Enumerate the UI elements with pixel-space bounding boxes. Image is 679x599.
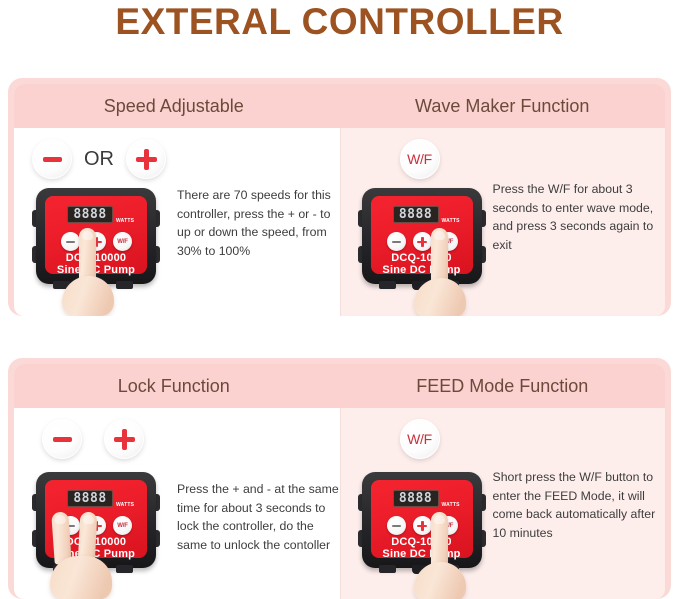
device-plus-button[interactable] xyxy=(87,232,106,251)
panel-header-row1: Speed Adjustable Wave Maker Function xyxy=(14,84,665,128)
panel-title-wave-maker: Wave Maker Function xyxy=(340,84,666,128)
device-plus-button[interactable] xyxy=(87,516,106,535)
minus-icon xyxy=(392,241,401,243)
display-digits: 8888 xyxy=(399,208,432,221)
device-wf-button[interactable]: W/F xyxy=(113,516,132,535)
device-shell: 8888 WATTS W/F xyxy=(362,188,482,284)
plus-badge-button[interactable] xyxy=(104,419,144,459)
device-minus-button[interactable] xyxy=(61,516,80,535)
badge-row-lock xyxy=(42,416,144,462)
minus-icon xyxy=(53,437,72,442)
device-display: 8888 xyxy=(67,206,113,223)
device-faceplate: 8888 WATTS W/F xyxy=(371,196,473,274)
wf-badge-button[interactable]: W/F xyxy=(400,139,440,179)
cable-gland-icon xyxy=(86,565,100,574)
panel-body-row1: OR 8888 xyxy=(14,128,665,316)
watts-label: WATTS xyxy=(442,218,460,224)
wf-label: W/F xyxy=(443,523,453,529)
wf-badge-button[interactable]: W/F xyxy=(400,419,440,459)
device-model-label: DCQ-10000 Sine DC Pump xyxy=(45,252,147,277)
model-line-2: Sine DC Pump xyxy=(57,264,135,276)
device-plus-button[interactable] xyxy=(413,232,432,251)
description-lock-function: Press the + and - at the same time for a… xyxy=(177,480,339,555)
device-display: 8888 xyxy=(67,490,113,507)
panel-title-feed-mode: FEED Mode Function xyxy=(340,364,666,408)
controller-device: 8888 WATTS W/F xyxy=(362,188,482,288)
model-line-2: Sine DC Pump xyxy=(382,264,460,276)
wf-label: W/F xyxy=(407,431,432,447)
display-digits: 8888 xyxy=(399,492,432,505)
description-speed-adjustable: There are 70 speeds for this controller,… xyxy=(177,186,337,261)
minus-icon xyxy=(66,241,75,243)
plus-icon xyxy=(417,521,427,531)
cable-gland-icon xyxy=(86,281,100,290)
device-shell: 8888 WATTS W/F xyxy=(36,188,156,284)
panel-speed-wave: Speed Adjustable Wave Maker Function OR xyxy=(8,78,671,316)
device-foot-icon xyxy=(53,565,70,573)
device-wf-button[interactable]: W/F xyxy=(439,232,458,251)
device-wf-button[interactable]: W/F xyxy=(113,232,132,251)
badge-row-wave: W/F xyxy=(400,136,440,182)
device-display: 8888 xyxy=(393,206,439,223)
infographic-root: EXTERAL CONTROLLER Speed Adjustable Wave… xyxy=(0,0,679,599)
model-line-1: DCQ-10000 xyxy=(66,252,127,264)
display-digits: 8888 xyxy=(73,208,106,221)
controller-device: 8888 WATTS W/F xyxy=(36,188,156,288)
wf-label: W/F xyxy=(117,239,127,245)
watts-label: WATTS xyxy=(442,502,460,508)
plus-badge-button[interactable] xyxy=(126,139,166,179)
device-model-label: DCQ-10000 Sine DC Pump xyxy=(371,252,473,277)
display-digits: 8888 xyxy=(73,492,106,505)
device-wf-button[interactable]: W/F xyxy=(439,516,458,535)
model-line-1: DCQ-10000 xyxy=(391,252,452,264)
cable-gland-icon xyxy=(412,281,426,290)
device-foot-icon xyxy=(442,565,459,573)
device-shell: 8888 WATTS W/F xyxy=(36,472,156,568)
device-foot-icon xyxy=(53,281,70,289)
wf-label: W/F xyxy=(407,151,432,167)
device-display: 8888 xyxy=(393,490,439,507)
device-faceplate: 8888 WATTS W/F xyxy=(45,196,147,274)
cable-gland-icon xyxy=(412,565,426,574)
watts-label: WATTS xyxy=(116,502,134,508)
minus-icon xyxy=(392,525,401,527)
cell-speed-adjustable: OR 8888 xyxy=(14,128,340,316)
device-foot-icon xyxy=(379,281,396,289)
controller-device: 8888 WATTS W/F xyxy=(36,472,156,572)
model-line-2: Sine DC Pump xyxy=(382,548,460,560)
device-model-label: DCQ-10000 Sine DC Pump xyxy=(371,536,473,561)
device-foot-icon xyxy=(379,565,396,573)
device-foot-icon xyxy=(116,281,133,289)
panel-lock-feed: Lock Function FEED Mode Function xyxy=(8,358,671,599)
cell-feed-mode: W/F 8888 xyxy=(340,408,666,599)
minus-icon xyxy=(66,525,75,527)
model-line-2: Sine DC Pump xyxy=(57,548,135,560)
device-plus-button[interactable] xyxy=(413,516,432,535)
device-shell: 8888 WATTS W/F xyxy=(362,472,482,568)
minus-badge-button[interactable] xyxy=(32,139,72,179)
cell-wave-maker: W/F 8888 xyxy=(340,128,666,316)
device-minus-button[interactable] xyxy=(387,232,406,251)
description-wave-maker: Press the W/F for about 3 seconds to ent… xyxy=(493,180,661,255)
panel-title-speed-adjustable: Speed Adjustable xyxy=(14,84,340,128)
device-minus-button[interactable] xyxy=(61,232,80,251)
model-line-1: DCQ-10000 xyxy=(66,536,127,548)
page-title: EXTERAL CONTROLLER xyxy=(0,0,679,52)
model-line-1: DCQ-10000 xyxy=(391,536,452,548)
description-feed-mode: Short press the W/F button to enter the … xyxy=(493,468,665,543)
plus-icon xyxy=(92,237,102,247)
badge-row-speed: OR xyxy=(32,136,166,182)
panel-title-lock-function: Lock Function xyxy=(14,364,340,408)
minus-icon xyxy=(43,157,62,162)
panel-body-row2: 8888 WATTS W/F xyxy=(14,408,665,599)
device-minus-button[interactable] xyxy=(387,516,406,535)
device-faceplate: 8888 WATTS W/F xyxy=(371,480,473,558)
minus-badge-button[interactable] xyxy=(42,419,82,459)
or-label: OR xyxy=(82,148,116,171)
watts-label: WATTS xyxy=(116,218,134,224)
wf-label: W/F xyxy=(443,239,453,245)
panel-header-row2: Lock Function FEED Mode Function xyxy=(14,364,665,408)
device-foot-icon xyxy=(116,565,133,573)
plus-icon xyxy=(114,429,135,450)
controller-device: 8888 WATTS W/F xyxy=(362,472,482,572)
wf-label: W/F xyxy=(117,523,127,529)
cell-lock-function: 8888 WATTS W/F xyxy=(14,408,340,599)
plus-icon xyxy=(417,237,427,247)
plus-icon xyxy=(92,521,102,531)
device-model-label: DCQ-10000 Sine DC Pump xyxy=(45,536,147,561)
device-foot-icon xyxy=(442,281,459,289)
device-faceplate: 8888 WATTS W/F xyxy=(45,480,147,558)
plus-icon xyxy=(136,149,157,170)
badge-row-feed: W/F xyxy=(400,416,440,462)
